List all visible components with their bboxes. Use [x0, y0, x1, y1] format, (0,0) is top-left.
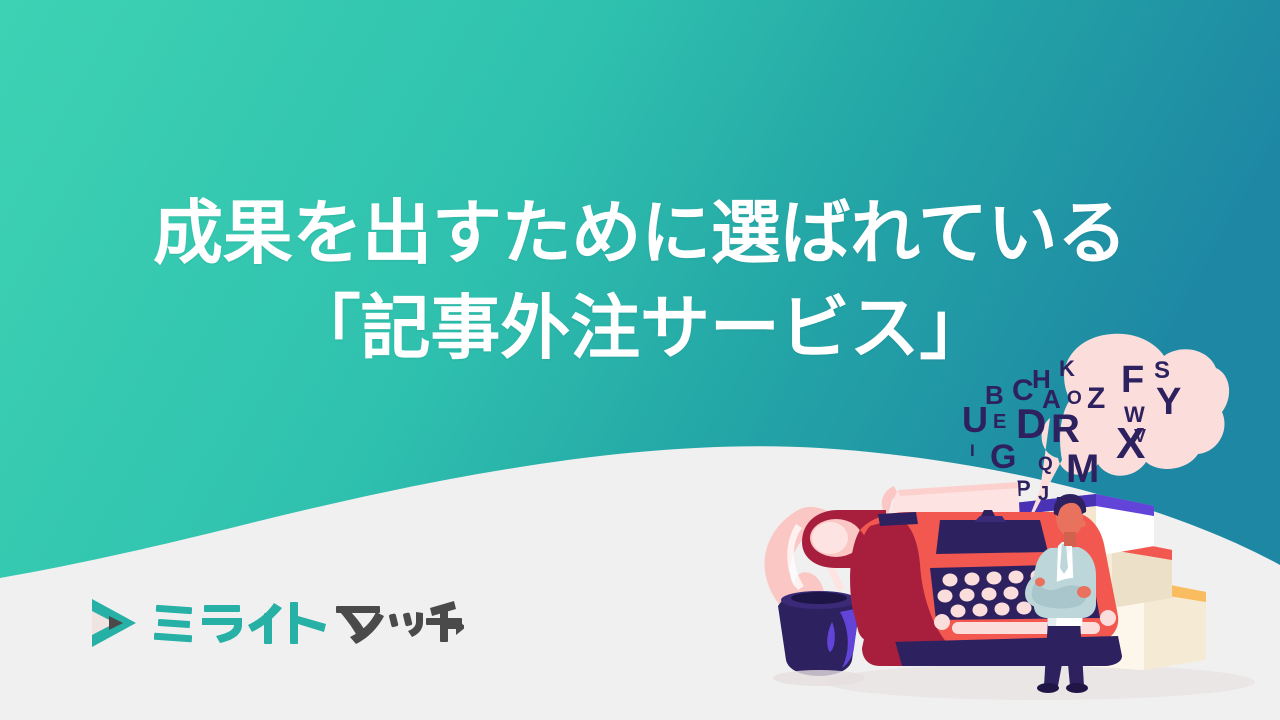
wordmark-mi — [154, 605, 192, 643]
letter-S: S — [1154, 357, 1170, 384]
wordmark-ra — [202, 605, 242, 643]
wordmark-to — [290, 602, 326, 644]
letter-I: I — [970, 441, 975, 460]
letter-Y: Y — [1156, 381, 1181, 423]
letter-J: J — [1038, 483, 1049, 505]
letter-K: K — [1059, 356, 1075, 381]
letter-E: E — [993, 411, 1006, 433]
letter-W: W — [1124, 402, 1145, 427]
typewriter-books-writer-illustration: K H F S C A O Z Y B D R X W U E V G Q M — [740, 330, 1280, 720]
ground-shadow — [825, 664, 1255, 700]
letter-Q: Q — [1038, 454, 1053, 475]
letter-O: O — [1067, 388, 1082, 409]
wordmark-small-tsu — [389, 612, 423, 637]
letter-D: D — [1016, 400, 1046, 447]
brand-logo[interactable] — [78, 592, 464, 654]
letter-Z: Z — [1087, 382, 1105, 415]
letter-U: U — [962, 399, 988, 440]
letter-F: F — [1121, 359, 1144, 401]
letter-V: V — [1134, 426, 1146, 446]
hero-banner: 成果を出すために選ばれている 「記事外注サービス」 — [0, 0, 1280, 720]
letter-M: M — [1066, 447, 1099, 491]
wordmark-i — [248, 603, 282, 644]
mirait-match-arrow-mark-icon — [78, 592, 140, 654]
letter-R: R — [1051, 407, 1080, 451]
letter-G: G — [990, 438, 1016, 476]
mirait-match-wordmark — [154, 600, 464, 646]
wordmark-ma — [336, 606, 384, 644]
